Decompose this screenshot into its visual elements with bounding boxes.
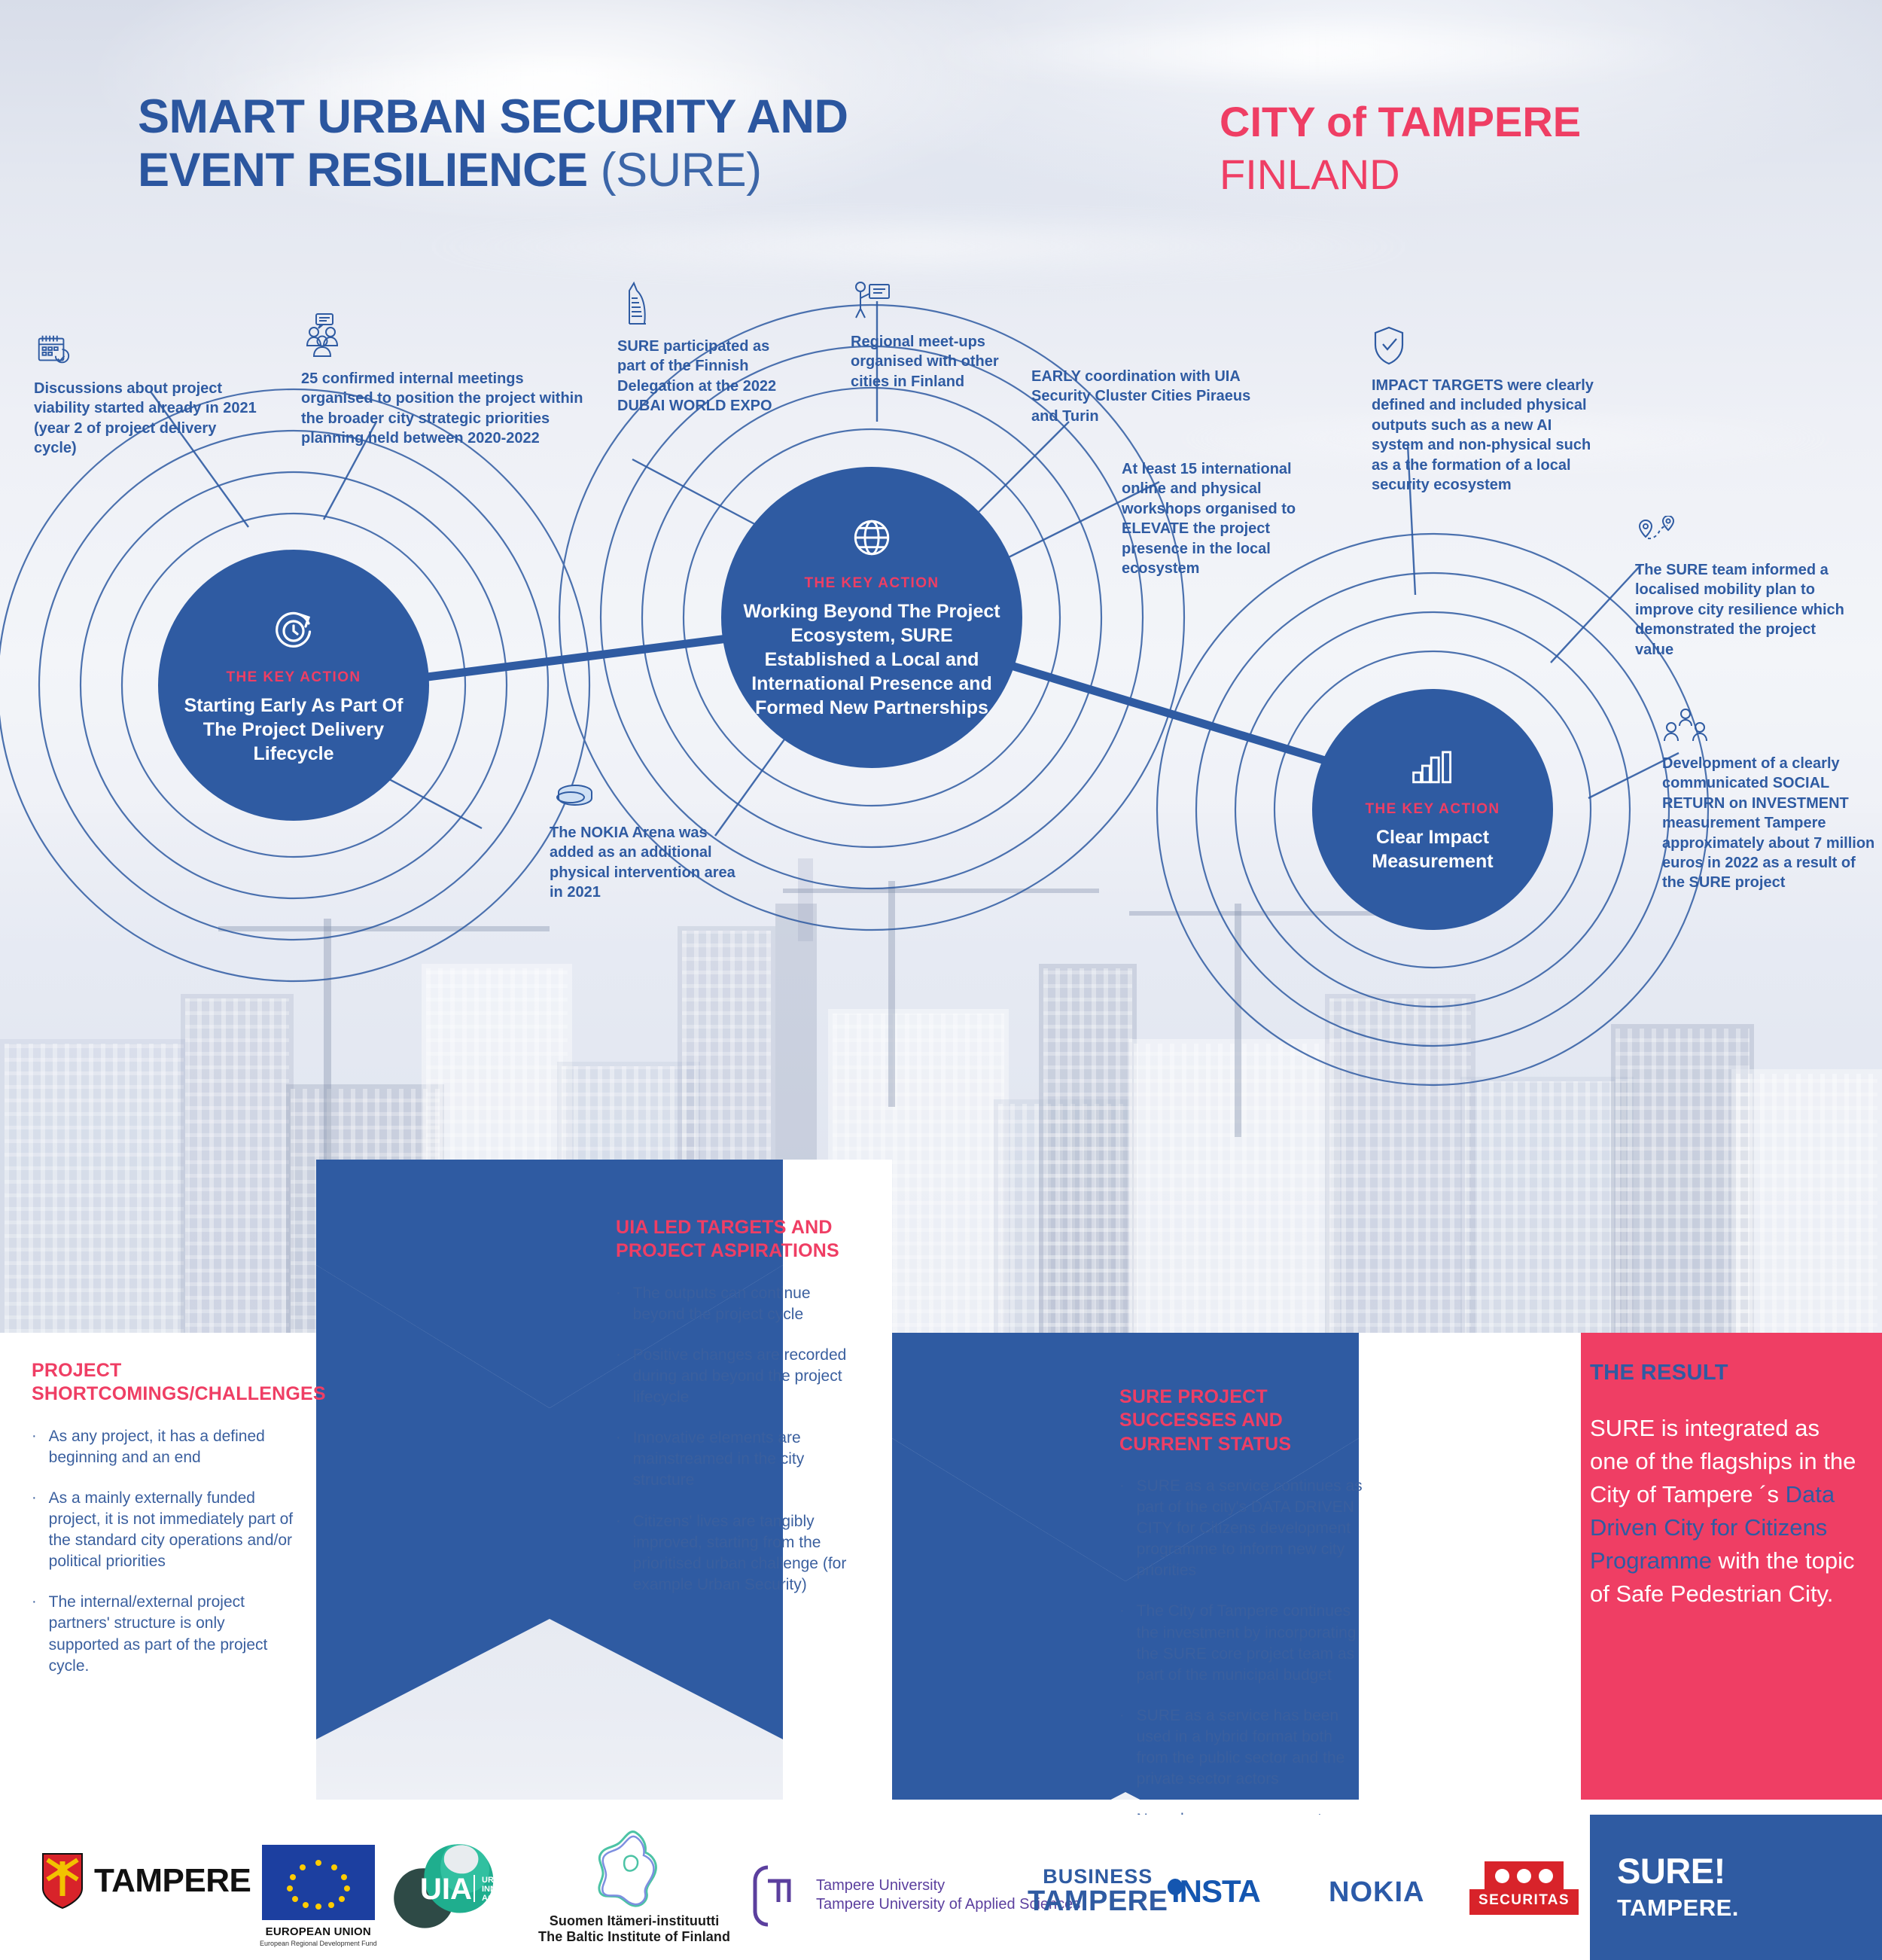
list-item-text: As any project, it has a defined beginni… bbox=[49, 1426, 295, 1468]
svg-text:UIA: UIA bbox=[420, 1873, 472, 1906]
logo-insta: iNSTA bbox=[1167, 1873, 1260, 1910]
svg-text:URBAN: URBAN bbox=[482, 1876, 512, 1885]
eu-subcaption: European Regional Development Fund bbox=[260, 1940, 377, 1947]
bullet-icon: · bbox=[1119, 1705, 1125, 1791]
callout-mobility-plan: The SURE team informed a localised mobil… bbox=[1635, 516, 1853, 660]
key-action-label: THE KEY ACTION bbox=[1365, 801, 1500, 818]
list-item-text: The City of Tampere continues the invest… bbox=[1137, 1601, 1368, 1686]
callout-internal-meetings: 25 confirmed internal meetings organised… bbox=[301, 312, 587, 449]
callout-workshops: At least 15 international online and phy… bbox=[1122, 459, 1317, 578]
logo-eu: EUROPEAN UNION European Regional Develop… bbox=[260, 1845, 377, 1947]
callout-text: EARLY coordination with UIA Security Clu… bbox=[1031, 367, 1257, 426]
callout-impact-targets: IMPACT TARGETS were clearly defined and … bbox=[1372, 325, 1597, 495]
callout-text: SURE participated as part of the Finnish… bbox=[617, 337, 783, 416]
route-pin-icon bbox=[1635, 516, 1853, 554]
panel-result: THE RESULT SURE is integrated as one of … bbox=[1590, 1359, 1861, 1611]
svg-text:INNOVATIVE: INNOVATIVE bbox=[482, 1885, 531, 1894]
list-item: ·Innovative elements are mainstreamed in… bbox=[616, 1428, 864, 1491]
list-item-text: SURE as a service continues as part of t… bbox=[1137, 1476, 1368, 1582]
list-item-text: SURE as a service has been used in a hyb… bbox=[1137, 1705, 1368, 1791]
node-title: Working Beyond The Project Ecosystem, SU… bbox=[738, 599, 1006, 720]
logo-tampere: TAMPERE bbox=[41, 1852, 251, 1910]
list-item: ·The City of Tampere continues the inves… bbox=[1119, 1601, 1368, 1686]
list-item: ·SURE as a service has been used in a hy… bbox=[1119, 1705, 1368, 1791]
callout-discussions: Discussions about project viability star… bbox=[34, 331, 260, 459]
securitas-dot-icon bbox=[1495, 1869, 1509, 1883]
burj-al-arab-icon bbox=[617, 280, 783, 331]
key-action-label: THE KEY ACTION bbox=[226, 669, 361, 686]
tampere-university-mark-icon bbox=[745, 1861, 805, 1929]
list-item: ·Positive changes are recorded during an… bbox=[616, 1345, 864, 1408]
panel-list: ·The outputs can continue beyond the pro… bbox=[616, 1283, 864, 1596]
list-item: ·As any project, it has a defined beginn… bbox=[32, 1426, 295, 1468]
clock-refresh-icon bbox=[270, 605, 318, 657]
sure-badge-line-2: TAMPERE. bbox=[1617, 1894, 1882, 1922]
securitas-wordmark: SECURITAS bbox=[1478, 1892, 1570, 1908]
node-clear-impact[interactable]: THE KEY ACTION Clear Impact Measurement bbox=[1312, 689, 1553, 930]
result-heading: THE RESULT bbox=[1590, 1359, 1861, 1386]
bullet-icon: · bbox=[616, 1283, 621, 1325]
list-item-text: As a mainly externally funded project, i… bbox=[49, 1488, 295, 1573]
panel-heading: UIA LED TARGETS AND PROJECT ASPIRATIONS bbox=[616, 1216, 864, 1263]
baltic-line-2: The Baltic Institute of Finland bbox=[538, 1929, 730, 1945]
footer-logo-bar: TAMPERE EUROPEAN UNION European Regional… bbox=[0, 1815, 1882, 1960]
list-item-text: Innovative elements are mainstreamed in … bbox=[633, 1428, 864, 1491]
panel-shortcomings: PROJECT SHORTCOMINGS/CHALLENGES ·As any … bbox=[32, 1359, 295, 1696]
node-title: Starting Early As Part Of The Project De… bbox=[181, 693, 407, 766]
securitas-dot-icon bbox=[1539, 1869, 1553, 1883]
bullet-icon: · bbox=[616, 1428, 621, 1491]
list-item-text: Citizens' lives are tangibly improved, s… bbox=[633, 1511, 864, 1596]
node-start-early[interactable]: THE KEY ACTION Starting Early As Part Of… bbox=[158, 550, 429, 821]
logo-uia: UIA URBAN INNOVATIVE ACTIONS bbox=[376, 1836, 534, 1934]
callout-early-coordination: EARLY coordination with UIA Security Clu… bbox=[1031, 367, 1257, 426]
list-item: ·Citizens' lives are tangibly improved, … bbox=[616, 1511, 864, 1596]
logo-baltic: Suomen Itämeri-instituutti The Baltic In… bbox=[538, 1830, 730, 1945]
svg-text:ACTIONS: ACTIONS bbox=[482, 1894, 519, 1903]
callout-regional-meetups: Regional meet-ups organised with other c… bbox=[851, 280, 1024, 392]
nokia-wordmark: NOKIA bbox=[1329, 1876, 1424, 1909]
callout-text: At least 15 international online and phy… bbox=[1122, 459, 1317, 578]
tampere-wordmark: TAMPERE bbox=[94, 1862, 251, 1900]
callout-text: Discussions about project viability star… bbox=[34, 379, 260, 459]
city-title: CITY of TAMPERE FINLAND bbox=[1220, 98, 1822, 200]
arena-icon bbox=[550, 783, 753, 817]
securitas-wordmark-bar: SECURITAS bbox=[1469, 1889, 1579, 1915]
bullet-icon: · bbox=[1119, 1476, 1125, 1582]
shield-check-icon bbox=[1372, 325, 1597, 370]
baltic-outline-icon bbox=[589, 1830, 680, 1909]
callout-social-return: Development of a clearly communicated SO… bbox=[1662, 708, 1880, 893]
city-title-line-2: FINLAND bbox=[1220, 149, 1822, 200]
list-item: ·SURE as a service continues as part of … bbox=[1119, 1476, 1368, 1582]
callout-text: Regional meet-ups organised with other c… bbox=[851, 332, 1024, 392]
insta-wordmark: iNSTA bbox=[1171, 1873, 1260, 1910]
list-item-text: The internal/external project partners' … bbox=[49, 1592, 295, 1677]
business-tampere-line-2: TAMPERE bbox=[1028, 1887, 1168, 1916]
baltic-line-1: Suomen Itämeri-instituutti bbox=[550, 1913, 720, 1929]
node-working-beyond[interactable]: THE KEY ACTION Working Beyond The Projec… bbox=[721, 467, 1022, 768]
list-item: ·The internal/external project partners'… bbox=[32, 1592, 295, 1677]
bar-chart-icon bbox=[1411, 746, 1454, 789]
callout-text: Development of a clearly communicated SO… bbox=[1662, 754, 1880, 893]
list-item: ·The outputs can continue beyond the pro… bbox=[616, 1283, 864, 1325]
list-item-text: Positive changes are recorded during and… bbox=[633, 1345, 864, 1408]
callout-nokia-arena: The NOKIA Arena was added as an addition… bbox=[550, 783, 753, 903]
business-tampere-line-1: BUSINESS bbox=[1043, 1867, 1153, 1887]
callout-text: The NOKIA Arena was added as an addition… bbox=[550, 823, 753, 903]
people-group-icon bbox=[1662, 708, 1880, 748]
bullet-icon: · bbox=[616, 1345, 621, 1408]
list-item: ·As a mainly externally funded project, … bbox=[32, 1488, 295, 1573]
page-title: SMART URBAN SECURITY AND EVENT RESILIENC… bbox=[138, 90, 1116, 197]
result-text: SURE is integrated as one of the flagshi… bbox=[1590, 1412, 1861, 1611]
bullet-icon: · bbox=[616, 1511, 621, 1596]
key-action-label: THE KEY ACTION bbox=[804, 575, 939, 592]
calendar-check-icon bbox=[34, 331, 260, 373]
sure-badge-line-1: SURE! bbox=[1617, 1853, 1882, 1888]
list-item-text: The outputs can continue beyond the proj… bbox=[633, 1283, 864, 1325]
sure-tampere-badge: SURE! TAMPERE. bbox=[1590, 1815, 1882, 1960]
panel-heading: SURE PROJECT SUCCESSES AND CURRENT STATU… bbox=[1119, 1385, 1368, 1456]
title-line-1: SMART URBAN SECURITY AND bbox=[138, 90, 848, 143]
logo-nokia: NOKIA bbox=[1329, 1876, 1424, 1909]
eu-flag-icon bbox=[262, 1845, 375, 1920]
callout-dubai-expo: SURE participated as part of the Finnish… bbox=[617, 280, 783, 416]
title-line-2-bold: EVENT RESILIENCE bbox=[138, 144, 588, 197]
callout-text: 25 confirmed internal meetings organised… bbox=[301, 369, 587, 449]
callout-text: IMPACT TARGETS were clearly defined and … bbox=[1372, 376, 1597, 495]
logo-securitas: SECURITAS bbox=[1469, 1861, 1579, 1915]
title-line-2-light: (SURE) bbox=[601, 144, 762, 197]
tampere-crest-icon bbox=[41, 1852, 84, 1910]
node-title: Clear Impact Measurement bbox=[1327, 825, 1538, 873]
bullet-icon: · bbox=[32, 1488, 37, 1573]
bullet-icon: · bbox=[32, 1426, 37, 1468]
bullet-icon: · bbox=[32, 1592, 37, 1677]
bullet-icon: · bbox=[1119, 1601, 1125, 1686]
uia-blob-icon: UIA URBAN INNOVATIVE ACTIONS bbox=[376, 1836, 534, 1934]
securitas-dot-icon bbox=[1517, 1869, 1531, 1883]
panel-heading: PROJECT SHORTCOMINGS/CHALLENGES bbox=[32, 1359, 295, 1407]
logo-business-tampere: BUSINESS TAMPERE bbox=[1028, 1867, 1168, 1916]
panel-uia-targets: UIA LED TARGETS AND PROJECT ASPIRATIONS … bbox=[616, 1216, 864, 1615]
panel-list: ·As any project, it has a defined beginn… bbox=[32, 1426, 295, 1677]
city-title-line-1: CITY of TAMPERE bbox=[1220, 98, 1822, 146]
meeting-people-icon bbox=[301, 312, 587, 363]
eu-caption: EUROPEAN UNION bbox=[266, 1925, 371, 1938]
globe-icon bbox=[850, 516, 894, 563]
securitas-dots-bar bbox=[1485, 1861, 1564, 1889]
presenter-icon bbox=[851, 280, 1024, 326]
callout-text: The SURE team informed a localised mobil… bbox=[1635, 560, 1853, 660]
